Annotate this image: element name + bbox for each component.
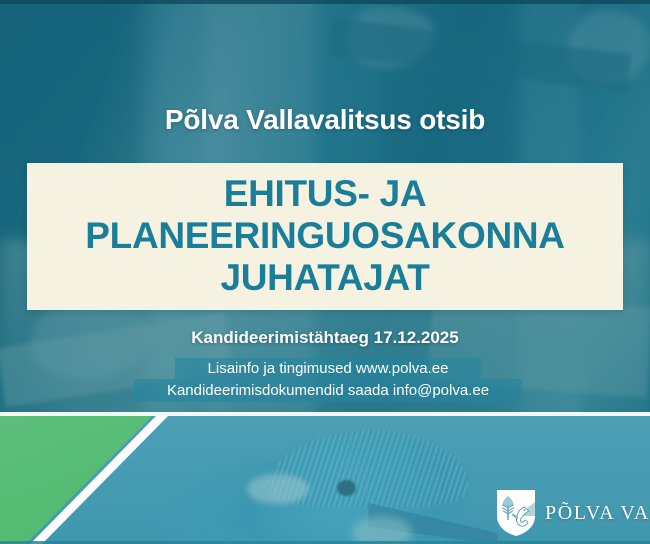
logo-wordmark: PÕLVA VALD [545, 502, 650, 525]
headline-line-2: PLANEERINGUOSAKONNA [27, 215, 623, 257]
eyebrow-text: Põlva Vallavalitsus otsib [0, 104, 650, 136]
job-advertisement-poster: Põlva Vallavalitsus otsib EHITUS- JA PLA… [0, 0, 650, 544]
top-edge-hairline [0, 0, 650, 4]
job-title-headline: EHITUS- JA PLANEERINGUOSAKONNA JUHATAJAT [27, 173, 623, 299]
info-line-website[interactable]: Lisainfo ja tingimused www.polva.ee [175, 358, 481, 379]
headline-line-1: EHITUS- JA [27, 173, 623, 215]
info-line-email[interactable]: Kandideerimisdokumendid saada info@polva… [134, 379, 522, 402]
section-divider-line [0, 412, 650, 416]
application-deadline-text: Kandideerimistähtaeg 17.12.2025 [0, 328, 650, 348]
headline-line-3: JUHATAJAT [27, 257, 623, 299]
polva-vald-logo[interactable]: PÕLVA VALD [496, 489, 650, 537]
headline-panel: EHITUS- JA PLANEERINGUOSAKONNA JUHATAJAT [27, 163, 623, 310]
coat-of-arms-shield-icon [496, 489, 536, 537]
